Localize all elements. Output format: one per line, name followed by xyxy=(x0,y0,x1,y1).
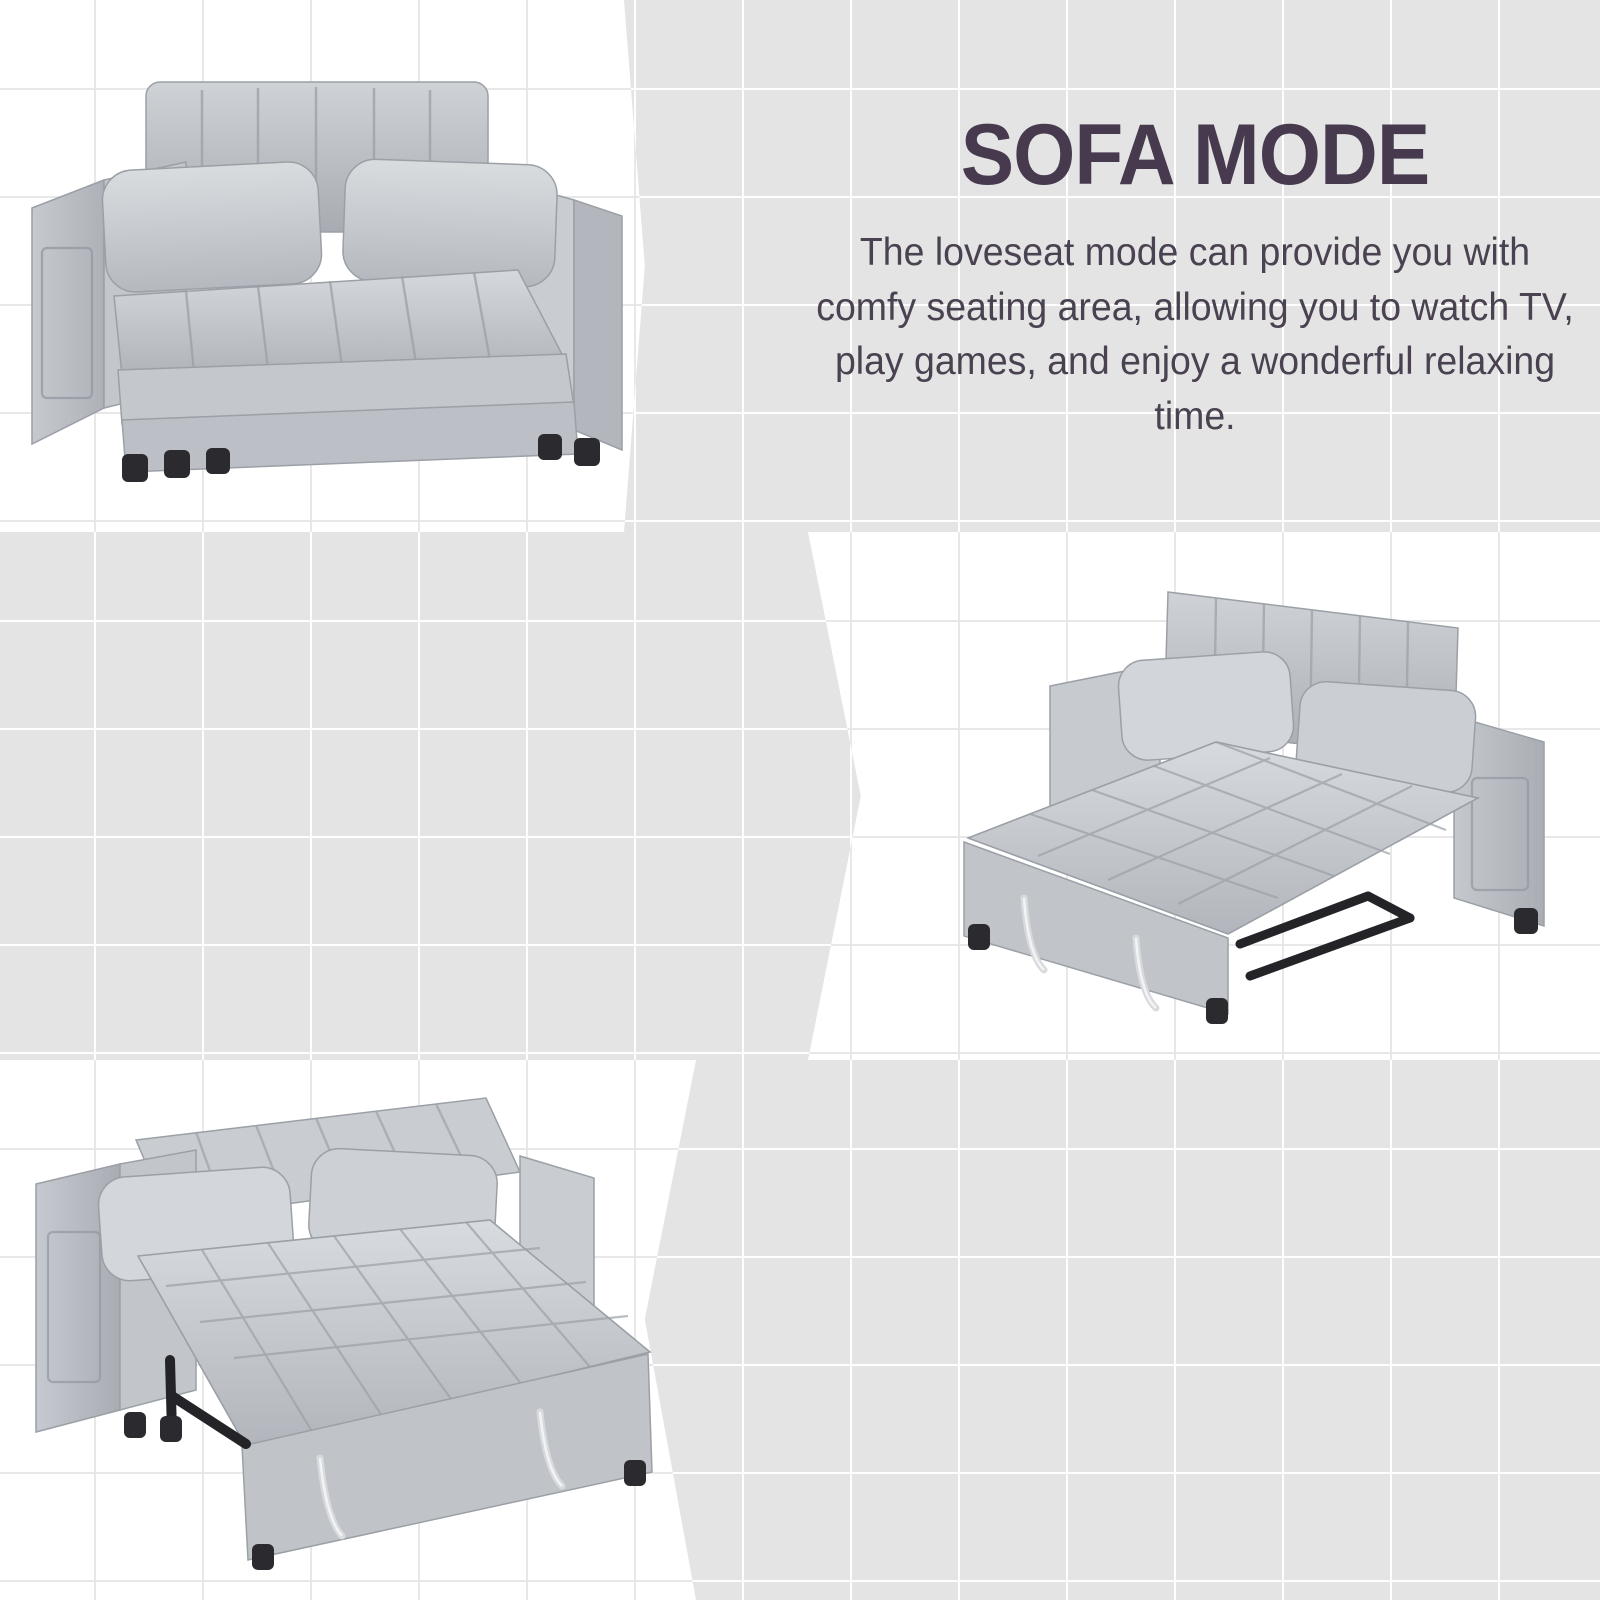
panel-bed-mode: BED MODE Pull down the backrest to turn … xyxy=(0,1060,1600,1600)
text-block-sofa-mode: SOFA MODE The loveseat mode can provide … xyxy=(800,112,1590,444)
panel-lounger-mode: LOUNGER MODE Pull out the end of the sof… xyxy=(0,532,1600,1060)
sofa-image-lounger-mode xyxy=(898,546,1578,1046)
sofa-image-sofa-mode xyxy=(18,58,638,488)
sofa-image-bed-mode xyxy=(20,1060,700,1580)
infographic-sheet: SOFA MODE The loveseat mode can provide … xyxy=(0,0,1600,1600)
body-sofa-mode: The loveseat mode can provide you with c… xyxy=(816,226,1574,444)
panel-sofa-mode: SOFA MODE The loveseat mode can provide … xyxy=(0,0,1600,532)
heading-sofa-mode: SOFA MODE xyxy=(828,112,1563,198)
